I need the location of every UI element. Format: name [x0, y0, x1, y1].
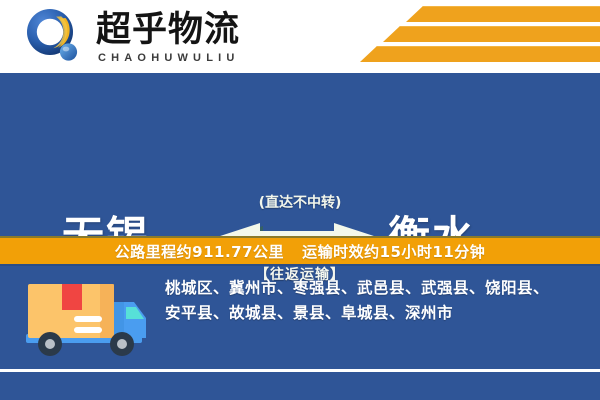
distance-text: 公路里程约911.77公里 — [115, 243, 284, 261]
bottom-divider — [0, 369, 600, 372]
orange-speed-stripes-icon — [360, 6, 600, 68]
banner-header: 超乎物流 CHAOHUWULIU — [0, 0, 600, 73]
route-info-bar: 公路里程约911.77公里运输时效约15小时11分钟 — [0, 236, 600, 266]
delivery-truck-icon — [22, 276, 150, 362]
direct-service-note: (直达不中转) — [0, 192, 600, 212]
brand-name-cn: 超乎物流 — [96, 13, 240, 48]
destination-line-2: 安平县、故城县、景县、阜城县、深州市 — [165, 301, 583, 326]
duration-text: 运输时效约15小时11分钟 — [302, 243, 485, 261]
destination-line-1: 桃城区、冀州市、枣强县、武邑县、武强县、饶阳县、 — [165, 276, 583, 301]
brand-name-en: CHAOHUWULIU — [96, 53, 240, 64]
route-info-text: 公路里程约911.77公里运输时效约15小时11分钟 — [115, 241, 486, 262]
stripe-top — [406, 6, 600, 22]
brand-text-block: 超乎物流 CHAOHUWULIU — [96, 11, 240, 64]
route-section: 无锡 衡水 (直达不中转) 【往返运输】 — [0, 75, 600, 235]
destination-area: 桃城区、冀州市、枣强县、武邑县、武强县、饶阳县、 安平县、故城县、景县、阜城县、… — [0, 268, 600, 368]
brand-logo-group: 超乎物流 CHAOHUWULIU — [24, 8, 240, 66]
stripe-bottom — [360, 46, 600, 62]
logistics-route-banner: 超乎物流 CHAOHUWULIU 无锡 衡水 (直达不中转) 【往返运输】 公路… — [0, 0, 600, 400]
destination-list: 桃城区、冀州市、枣强县、武邑县、武强县、饶阳县、 安平县、故城县、景县、阜城县、… — [165, 276, 583, 326]
stripe-middle — [383, 26, 600, 42]
circle-q-logo-icon — [24, 8, 86, 66]
